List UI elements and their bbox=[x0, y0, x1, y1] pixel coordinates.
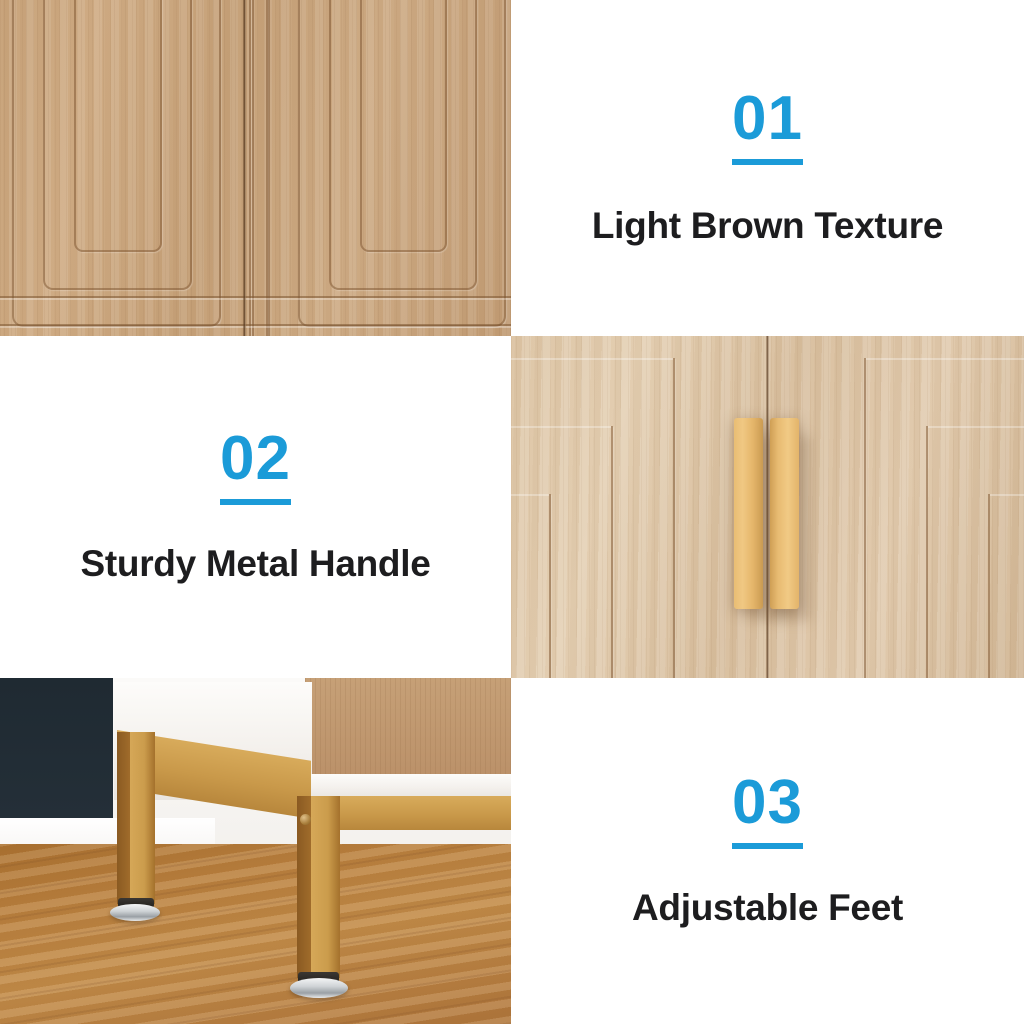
light-brown-textured-cabinet-doors-photo bbox=[0, 0, 511, 336]
features-infographic: 01 Light Brown Texture 02 Sturdy Metal H… bbox=[0, 0, 1024, 1024]
feature-block-03: 03 Adjustable Feet bbox=[511, 678, 1024, 1024]
dark-navy-wall bbox=[0, 678, 113, 818]
feature-block-02: 02 Sturdy Metal Handle bbox=[0, 336, 511, 678]
leg-screw bbox=[300, 814, 311, 825]
handle-door-groove-3-right bbox=[988, 494, 1024, 678]
door-center-seam bbox=[243, 0, 246, 336]
feet-scene bbox=[0, 678, 511, 1024]
gold-leg-back-shadow-face bbox=[117, 732, 130, 904]
feature-number-03: 03 bbox=[732, 772, 803, 849]
feature-title-03: Adjustable Feet bbox=[632, 887, 903, 930]
gold-handle-bar-left[interactable] bbox=[734, 418, 763, 609]
feature-block-01: 01 Light Brown Texture bbox=[511, 0, 1024, 336]
adjustable-feet-gold-legs-photo bbox=[0, 678, 511, 1024]
cabinet-white-body-right bbox=[300, 774, 511, 798]
adjustable-foot-chrome-front[interactable] bbox=[290, 978, 348, 998]
feature-title-01: Light Brown Texture bbox=[592, 205, 943, 248]
feature-title-02: Sturdy Metal Handle bbox=[81, 543, 431, 586]
herringbone-wood-floor bbox=[0, 844, 511, 1024]
door-bottom-rail-line-2 bbox=[0, 324, 511, 326]
handle-door-groove-3-left bbox=[511, 494, 551, 678]
door-bottom-rail-line-1 bbox=[0, 296, 511, 298]
door-groove-inner-right bbox=[360, 0, 447, 252]
adjustable-foot-chrome-back[interactable] bbox=[110, 904, 160, 921]
gold-handle-bar-right[interactable] bbox=[770, 418, 799, 609]
cabinet-wood-door-bottom bbox=[305, 678, 511, 778]
handle-wood-surface bbox=[511, 336, 1024, 678]
wood-door-surface bbox=[0, 0, 511, 336]
feature-number-01: 01 bbox=[732, 88, 803, 165]
door-groove-inner-left bbox=[74, 0, 162, 252]
gold-metal-handle-photo bbox=[511, 336, 1024, 678]
feature-number-02: 02 bbox=[220, 428, 291, 505]
